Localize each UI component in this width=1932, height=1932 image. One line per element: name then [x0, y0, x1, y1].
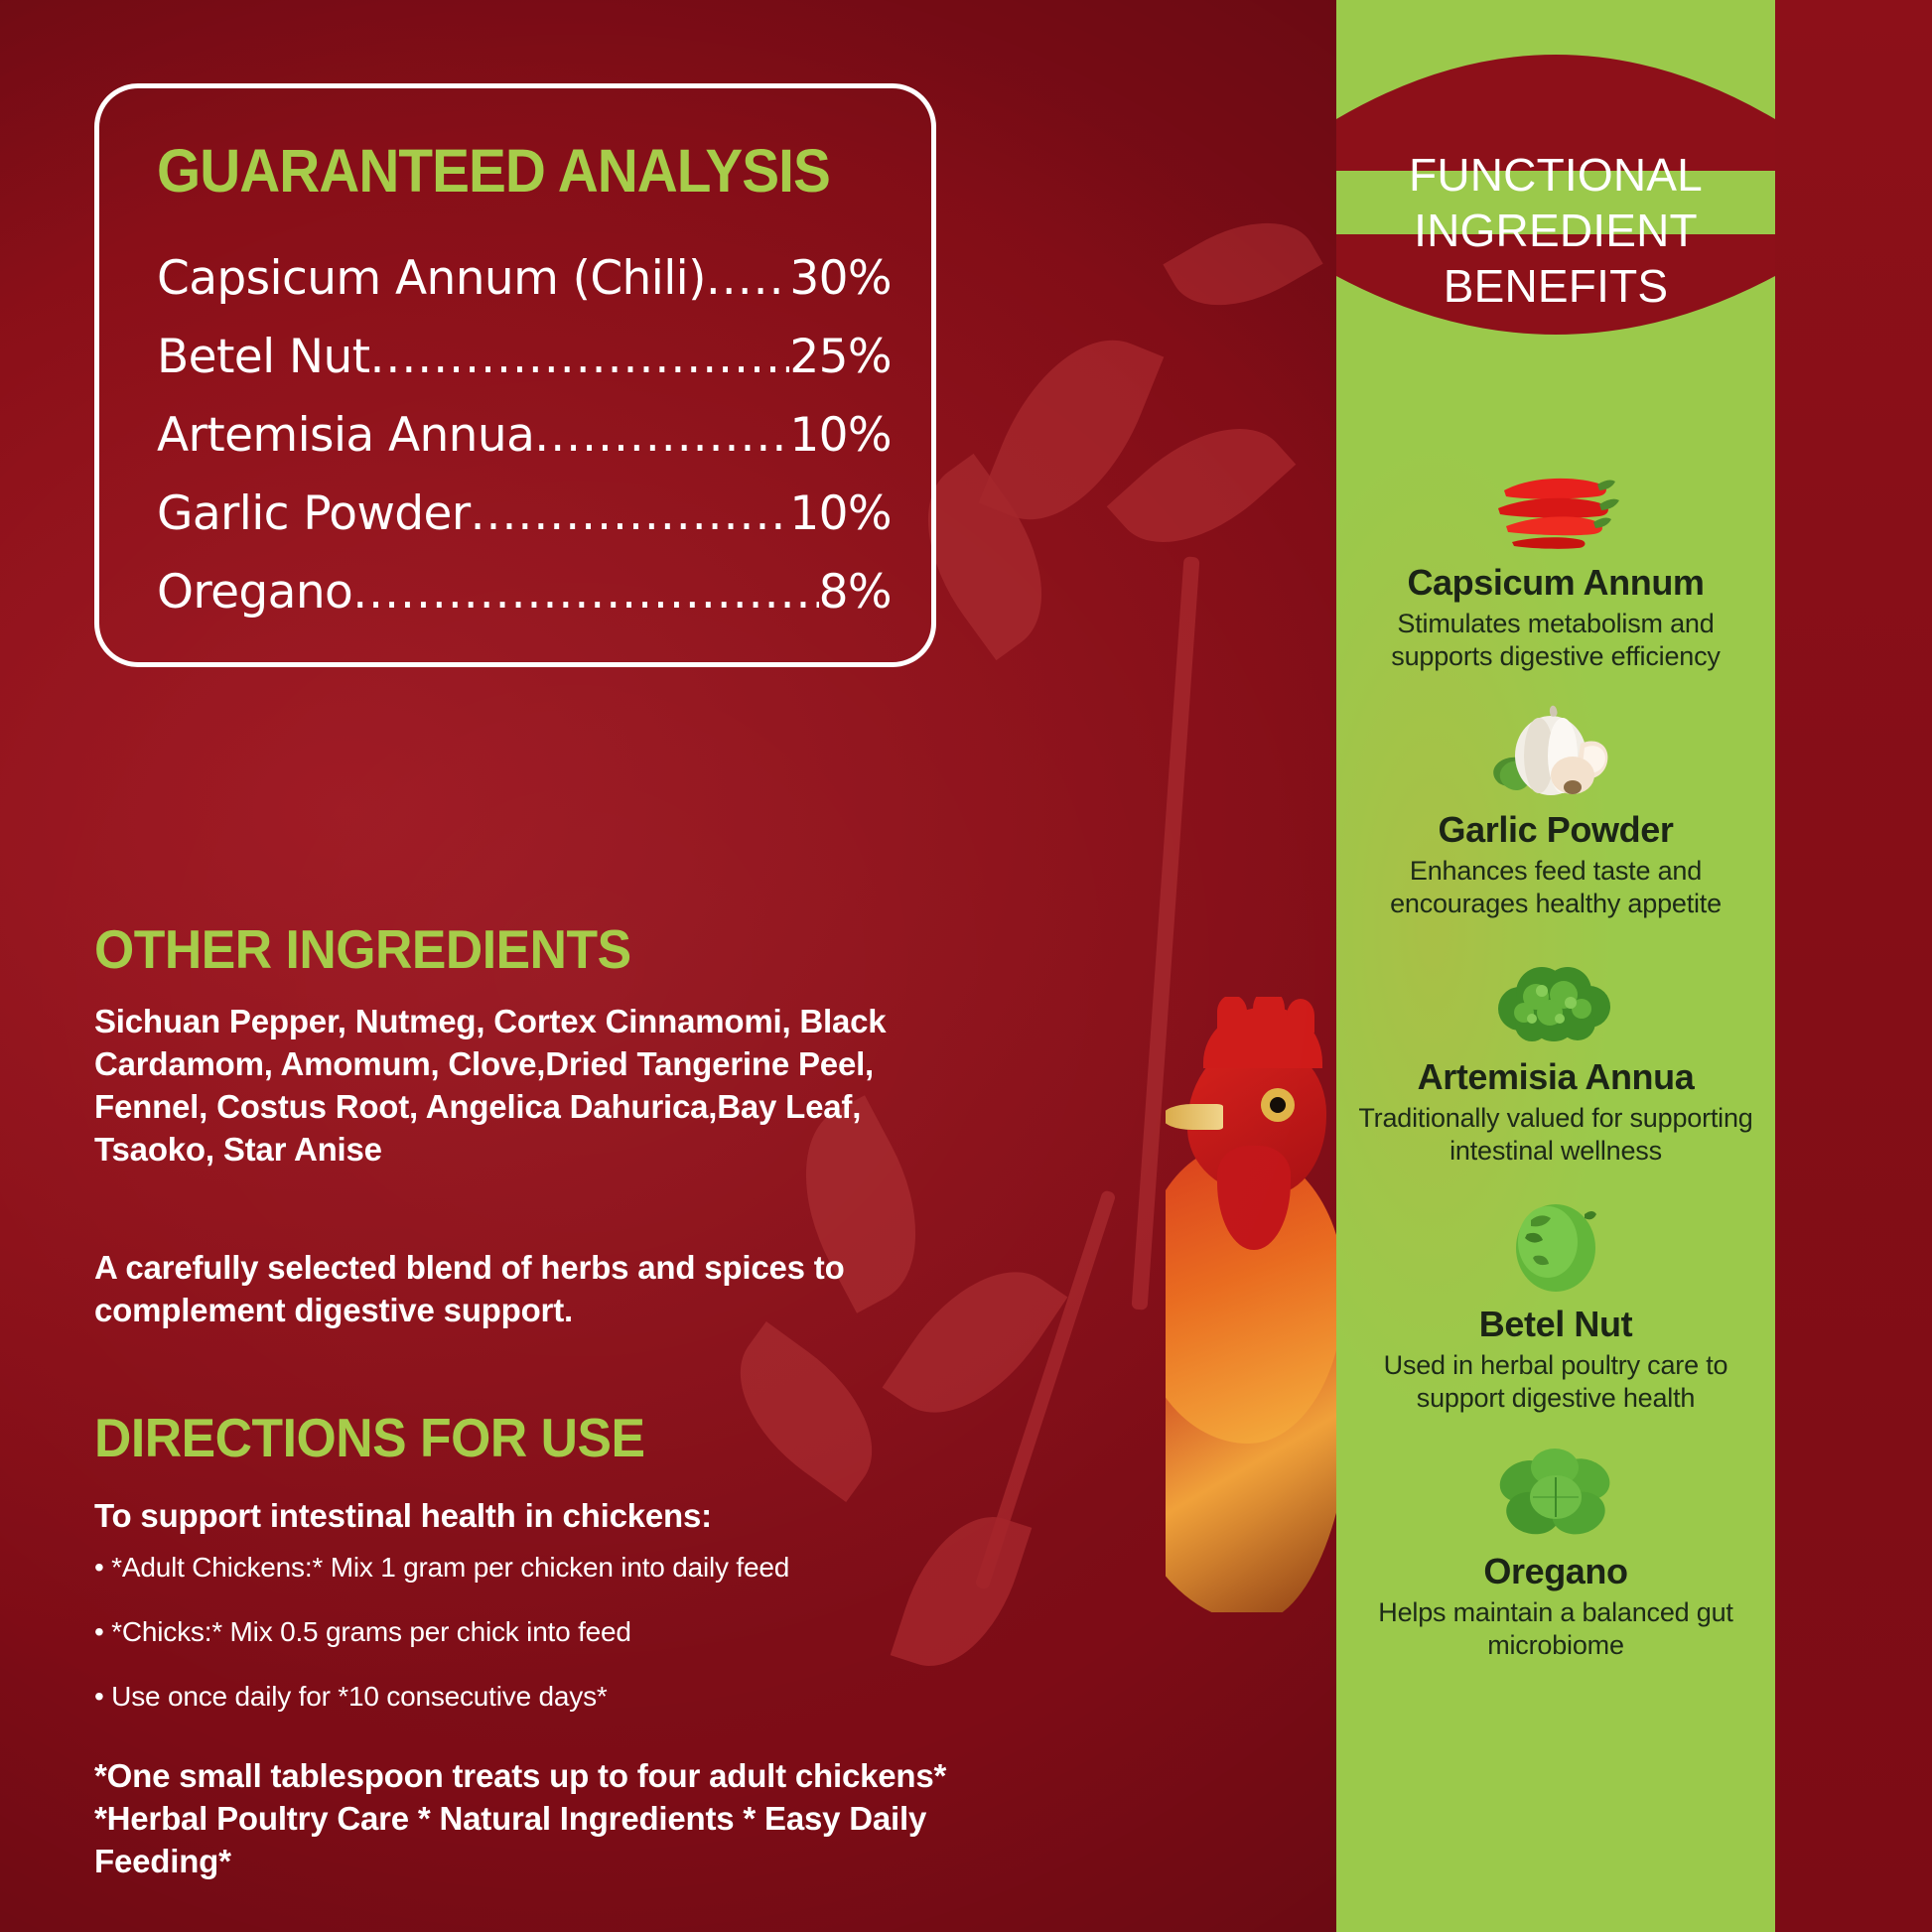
directions-bullet-list: • *Adult Chickens:* Mix 1 gram per chick… — [94, 1552, 988, 1745]
guaranteed-analysis-box: GUARANTEED ANALYSIS Capsicum Annum (Chil… — [94, 83, 936, 667]
ingredient-percent: 10% — [789, 408, 892, 463]
benefit-description: Traditionally valued for supporting inte… — [1336, 1102, 1775, 1169]
artemisia-herb-icon — [1336, 943, 1775, 1046]
directions-subtitle: To support intestinal health in chickens… — [94, 1495, 712, 1538]
leader-dots: .................................. — [352, 565, 818, 620]
panel-heading-line-2: INGREDIENT — [1336, 203, 1775, 258]
panel-notch-top-arc — [1336, 0, 1775, 171]
leader-dots: ...................... — [534, 408, 789, 463]
tagline-line-2: *Herbal Poultry Care * Natural Ingredien… — [94, 1798, 1018, 1883]
benefit-item-betel-nut: Betel Nut Used in herbal poultry care to… — [1336, 1190, 1775, 1416]
other-ingredients-title: OTHER INGREDIENTS — [94, 917, 631, 981]
table-row: Betel Nut ..............................… — [157, 330, 892, 408]
ingredient-percent: 8% — [819, 565, 892, 620]
guaranteed-analysis-title: GUARANTEED ANALYSIS — [157, 136, 830, 206]
benefit-name: Betel Nut — [1336, 1304, 1775, 1345]
benefit-name: Capsicum Annum — [1336, 562, 1775, 604]
benefit-description: Helps maintain a balanced gut microbiome — [1336, 1596, 1775, 1663]
ingredient-name: Capsicum Annum (Chili) — [157, 251, 706, 306]
garlic-bulb-icon — [1336, 696, 1775, 799]
table-row: Artemisia Annua ...................... 1… — [157, 408, 892, 486]
oregano-leaves-icon — [1336, 1438, 1775, 1541]
panel-heading-line-3: BENEFITS — [1336, 258, 1775, 314]
table-row: Garlic Powder ..........................… — [157, 486, 892, 565]
benefit-name: Artemisia Annua — [1336, 1056, 1775, 1098]
benefit-item-oregano: Oregano Helps maintain a balanced gut mi… — [1336, 1438, 1775, 1663]
benefit-item-garlic: Garlic Powder Enhances feed taste and en… — [1336, 696, 1775, 921]
table-row: Oregano ................................… — [157, 565, 892, 643]
directions-title: DIRECTIONS FOR USE — [94, 1406, 645, 1469]
ingredient-name: Garlic Powder — [157, 486, 471, 541]
benefit-item-artemisia: Artemisia Annua Traditionally valued for… — [1336, 943, 1775, 1169]
ingredient-percent: 30% — [789, 251, 892, 306]
benefit-item-capsicum: Capsicum Annum Stimulates metabolism and… — [1336, 449, 1775, 674]
ingredient-percent: 25% — [789, 330, 892, 384]
panel-heading: FUNCTIONAL INGREDIENT BENEFITS — [1336, 147, 1775, 314]
table-row: Capsicum Annum (Chili) ........... 30% — [157, 251, 892, 330]
panel-heading-line-1: FUNCTIONAL — [1336, 147, 1775, 203]
tagline-line-1: *One small tablespoon treats up to four … — [94, 1755, 1018, 1798]
benefits-list: Capsicum Annum Stimulates metabolism and… — [1336, 449, 1775, 1685]
list-item: • Use once daily for *10 consecutive day… — [94, 1681, 988, 1713]
ingredient-percent: 10% — [789, 486, 892, 541]
benefit-name: Oregano — [1336, 1551, 1775, 1592]
benefit-description: Used in herbal poultry care to support d… — [1336, 1349, 1775, 1416]
list-item: • *Adult Chickens:* Mix 1 gram per chick… — [94, 1552, 988, 1584]
ingredient-name: Oregano — [157, 565, 352, 620]
tagline-block: *One small tablespoon treats up to four … — [94, 1755, 1018, 1883]
benefit-description: Enhances feed taste and encourages healt… — [1336, 855, 1775, 921]
guaranteed-analysis-list: Capsicum Annum (Chili) ........... 30% B… — [157, 251, 892, 643]
ingredient-name: Artemisia Annua — [157, 408, 534, 463]
betel-nut-icon — [1336, 1190, 1775, 1294]
chili-peppers-icon — [1336, 449, 1775, 552]
other-ingredients-body: Sichuan Pepper, Nutmeg, Cortex Cinnamomi… — [94, 1001, 988, 1172]
leader-dots: ........... — [706, 251, 789, 306]
benefit-description: Stimulates metabolism and supports diges… — [1336, 608, 1775, 674]
ingredient-name: Betel Nut — [157, 330, 369, 384]
leader-dots: ........................... — [471, 486, 790, 541]
left-content-column: GUARANTEED ANALYSIS Capsicum Annum (Chil… — [0, 0, 1336, 1932]
blend-note: A carefully selected blend of herbs and … — [94, 1247, 968, 1332]
benefit-name: Garlic Powder — [1336, 809, 1775, 851]
list-item: • *Chicks:* Mix 0.5 grams per chick into… — [94, 1616, 988, 1648]
leader-dots: ............................... — [369, 330, 789, 384]
right-red-strip — [1775, 0, 1932, 1932]
